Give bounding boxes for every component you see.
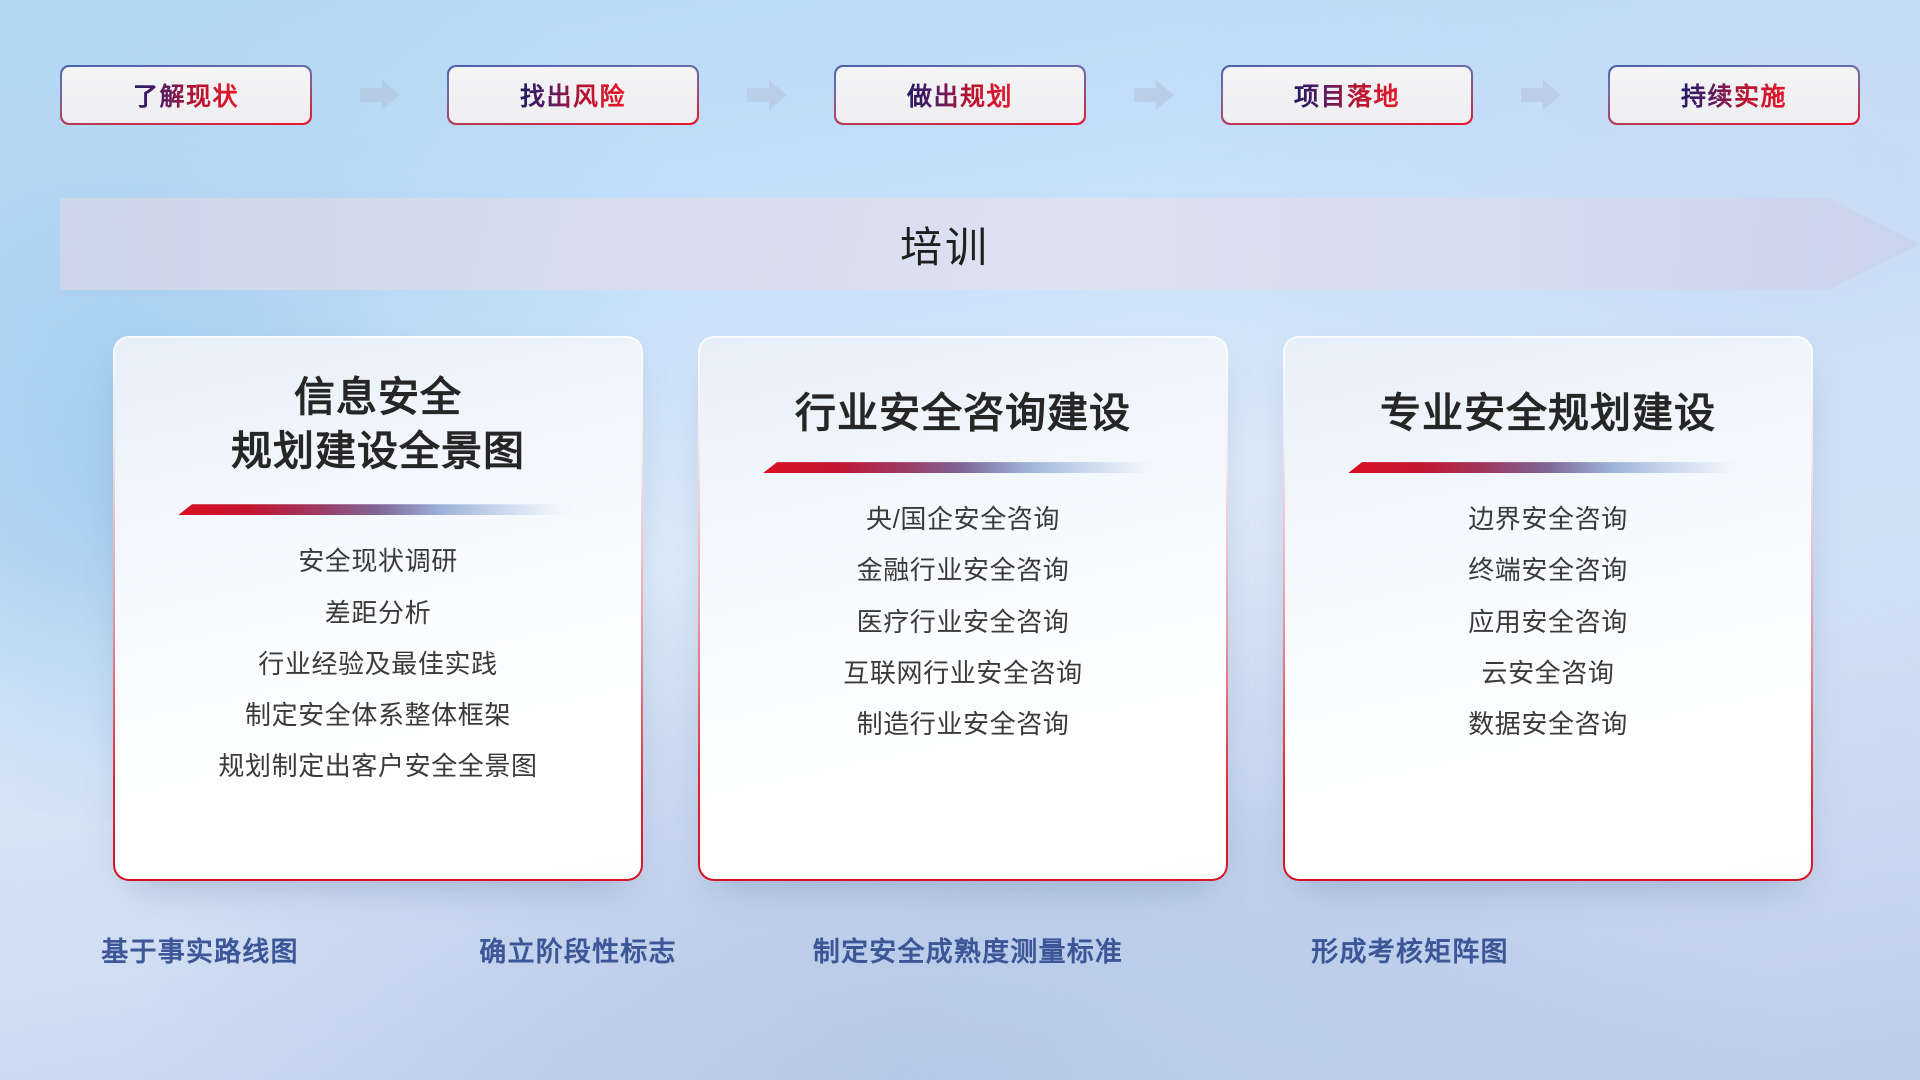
card-2-title: 行业安全咨询建设 [795,386,1131,440]
list-item: 医疗行业安全咨询 [857,602,1070,642]
bottom-label-row: 基于事实路线图 确立阶段性标志 制定安全成熟度测量标准 形成考核矩阵图 [0,930,1920,974]
card-3-inner: 专业安全规划建设 边界安全咨询 终端安全咨询 应用安全咨询 云安全咨询 数据安全… [1285,338,1811,879]
list-item: 安全现状调研 [298,541,458,581]
list-item: 制定安全体系整体框架 [245,695,511,735]
step-box-5[interactable]: 持续实施 [1608,65,1860,125]
banner-label: 培训 [60,198,1920,290]
list-item: 云安全咨询 [1481,653,1614,693]
step-box-4-inner: 项目落地 [1223,67,1472,124]
list-item: 央/国企安全咨询 [866,499,1060,539]
card-1-divider [178,504,578,515]
step-box-2-inner: 找出风险 [449,67,698,124]
arrow-right-icon-3 [1134,80,1174,110]
step-box-3[interactable]: 做出规划 [834,65,1086,125]
card-2-inner: 行业安全咨询建设 央/国企安全咨询 金融行业安全咨询 医疗行业安全咨询 互联网行… [700,338,1226,879]
arrow-right-icon-4 [1521,80,1561,110]
list-item: 边界安全咨询 [1468,499,1628,539]
step-label-1: 了解现状 [133,77,239,113]
card-1-list: 安全现状调研 差距分析 行业经验及最佳实践 制定安全体系整体框架 规划制定出客户… [218,541,537,786]
list-item: 互联网行业安全咨询 [843,653,1082,693]
bottom-label-3: 制定安全成熟度测量标准 [813,930,1123,969]
card-3-list: 边界安全咨询 终端安全咨询 应用安全咨询 云安全咨询 数据安全咨询 [1468,499,1628,744]
bottom-label-2: 确立阶段性标志 [479,930,676,969]
bottom-label-1: 基于事实路线图 [101,930,298,969]
list-item: 终端安全咨询 [1468,550,1628,590]
card-1-title: 信息安全 规划建设全景图 [231,370,525,478]
process-step-row: 了解现状 找出风险 做出规划 项目落地 持续实施 [60,64,1860,126]
card-2-list: 央/国企安全咨询 金融行业安全咨询 医疗行业安全咨询 互联网行业安全咨询 制造行… [843,499,1082,744]
list-item: 应用安全咨询 [1468,602,1628,642]
card-2-divider [763,462,1163,473]
step-box-1[interactable]: 了解现状 [60,65,312,125]
step-box-4[interactable]: 项目落地 [1221,65,1473,125]
list-item: 规划制定出客户安全全景图 [218,746,537,786]
card-row: 信息安全 规划建设全景图 安全现状调研 差距分析 行业经验及最佳实践 制定安全体… [113,336,1813,881]
step-box-3-inner: 做出规划 [836,67,1085,124]
card-1[interactable]: 信息安全 规划建设全景图 安全现状调研 差距分析 行业经验及最佳实践 制定安全体… [113,336,643,881]
bottom-label-4: 形成考核矩阵图 [1311,930,1508,969]
arrow-right-icon-1 [360,80,400,110]
card-3-title: 专业安全规划建设 [1380,386,1716,440]
step-box-5-inner: 持续实施 [1610,67,1859,124]
list-item: 金融行业安全咨询 [857,550,1070,590]
card-3[interactable]: 专业安全规划建设 边界安全咨询 终端安全咨询 应用安全咨询 云安全咨询 数据安全… [1283,336,1813,881]
training-banner: 培训 [60,198,1920,290]
step-label-5: 持续实施 [1681,77,1787,113]
step-box-1-inner: 了解现状 [62,67,311,124]
step-label-3: 做出规划 [907,77,1013,113]
list-item: 制造行业安全咨询 [857,704,1070,744]
list-item: 数据安全咨询 [1468,704,1628,744]
step-box-2[interactable]: 找出风险 [447,65,699,125]
list-item: 差距分析 [325,593,431,633]
step-label-2: 找出风险 [520,77,626,113]
card-1-inner: 信息安全 规划建设全景图 安全现状调研 差距分析 行业经验及最佳实践 制定安全体… [115,338,641,879]
arrow-right-icon-2 [747,80,787,110]
step-label-4: 项目落地 [1294,77,1400,113]
card-2[interactable]: 行业安全咨询建设 央/国企安全咨询 金融行业安全咨询 医疗行业安全咨询 互联网行… [698,336,1228,881]
list-item: 行业经验及最佳实践 [258,644,497,684]
card-3-divider [1348,462,1748,473]
